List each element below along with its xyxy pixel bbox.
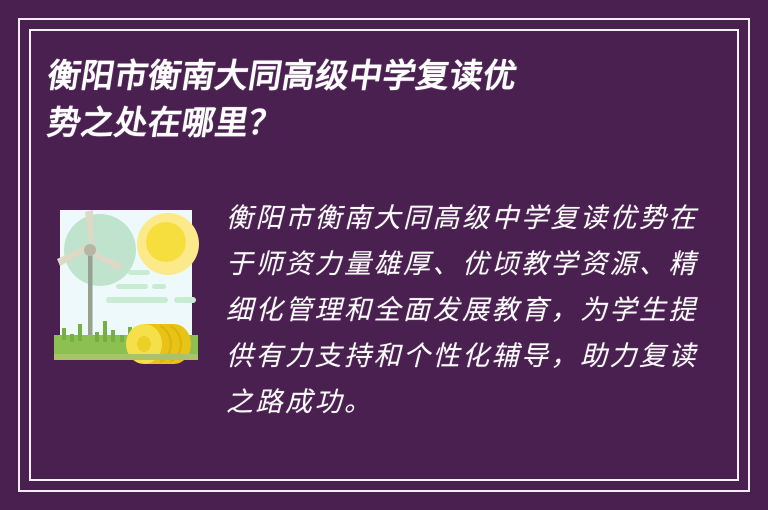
- content-row: 衡阳市衡南大同高级中学复读优势在于师资力量雄厚、优顷教学资源、精细化管理和全面发…: [48, 196, 708, 426]
- cloud-line-2: [116, 284, 148, 289]
- cloud-line-3: [152, 284, 166, 289]
- wind-turbine-farm-illustration: [48, 202, 204, 370]
- title-line-2: 势之处在哪里？: [44, 99, 651, 146]
- tree-shape: [64, 214, 136, 286]
- body-paragraph: 衡阳市衡南大同高级中学复读优势在于师资力量雄厚、优顷教学资源、精细化管理和全面发…: [226, 196, 708, 426]
- sun-inner-shape: [146, 222, 186, 262]
- body-copy: 衡阳市衡南大同高级中学复读优势在于师资力量雄厚、优顷教学资源、精细化管理和全面发…: [226, 196, 708, 426]
- cloud-line-5: [174, 297, 196, 303]
- illustration-svg: [48, 202, 204, 370]
- cloud-line-1: [128, 270, 150, 275]
- ground-strip-shape: [54, 354, 198, 360]
- hay-bale-spiral-shape: [137, 336, 151, 352]
- title-line-1: 衡阳市衡南大同高级中学复读优: [44, 52, 651, 99]
- cloud-line-4: [106, 297, 168, 303]
- poster-canvas: 衡阳市衡南大同高级中学复读优 势之处在哪里？: [0, 0, 768, 510]
- turbine-hub-shape: [84, 244, 96, 256]
- page-title: 衡阳市衡南大同高级中学复读优 势之处在哪里？: [48, 52, 648, 146]
